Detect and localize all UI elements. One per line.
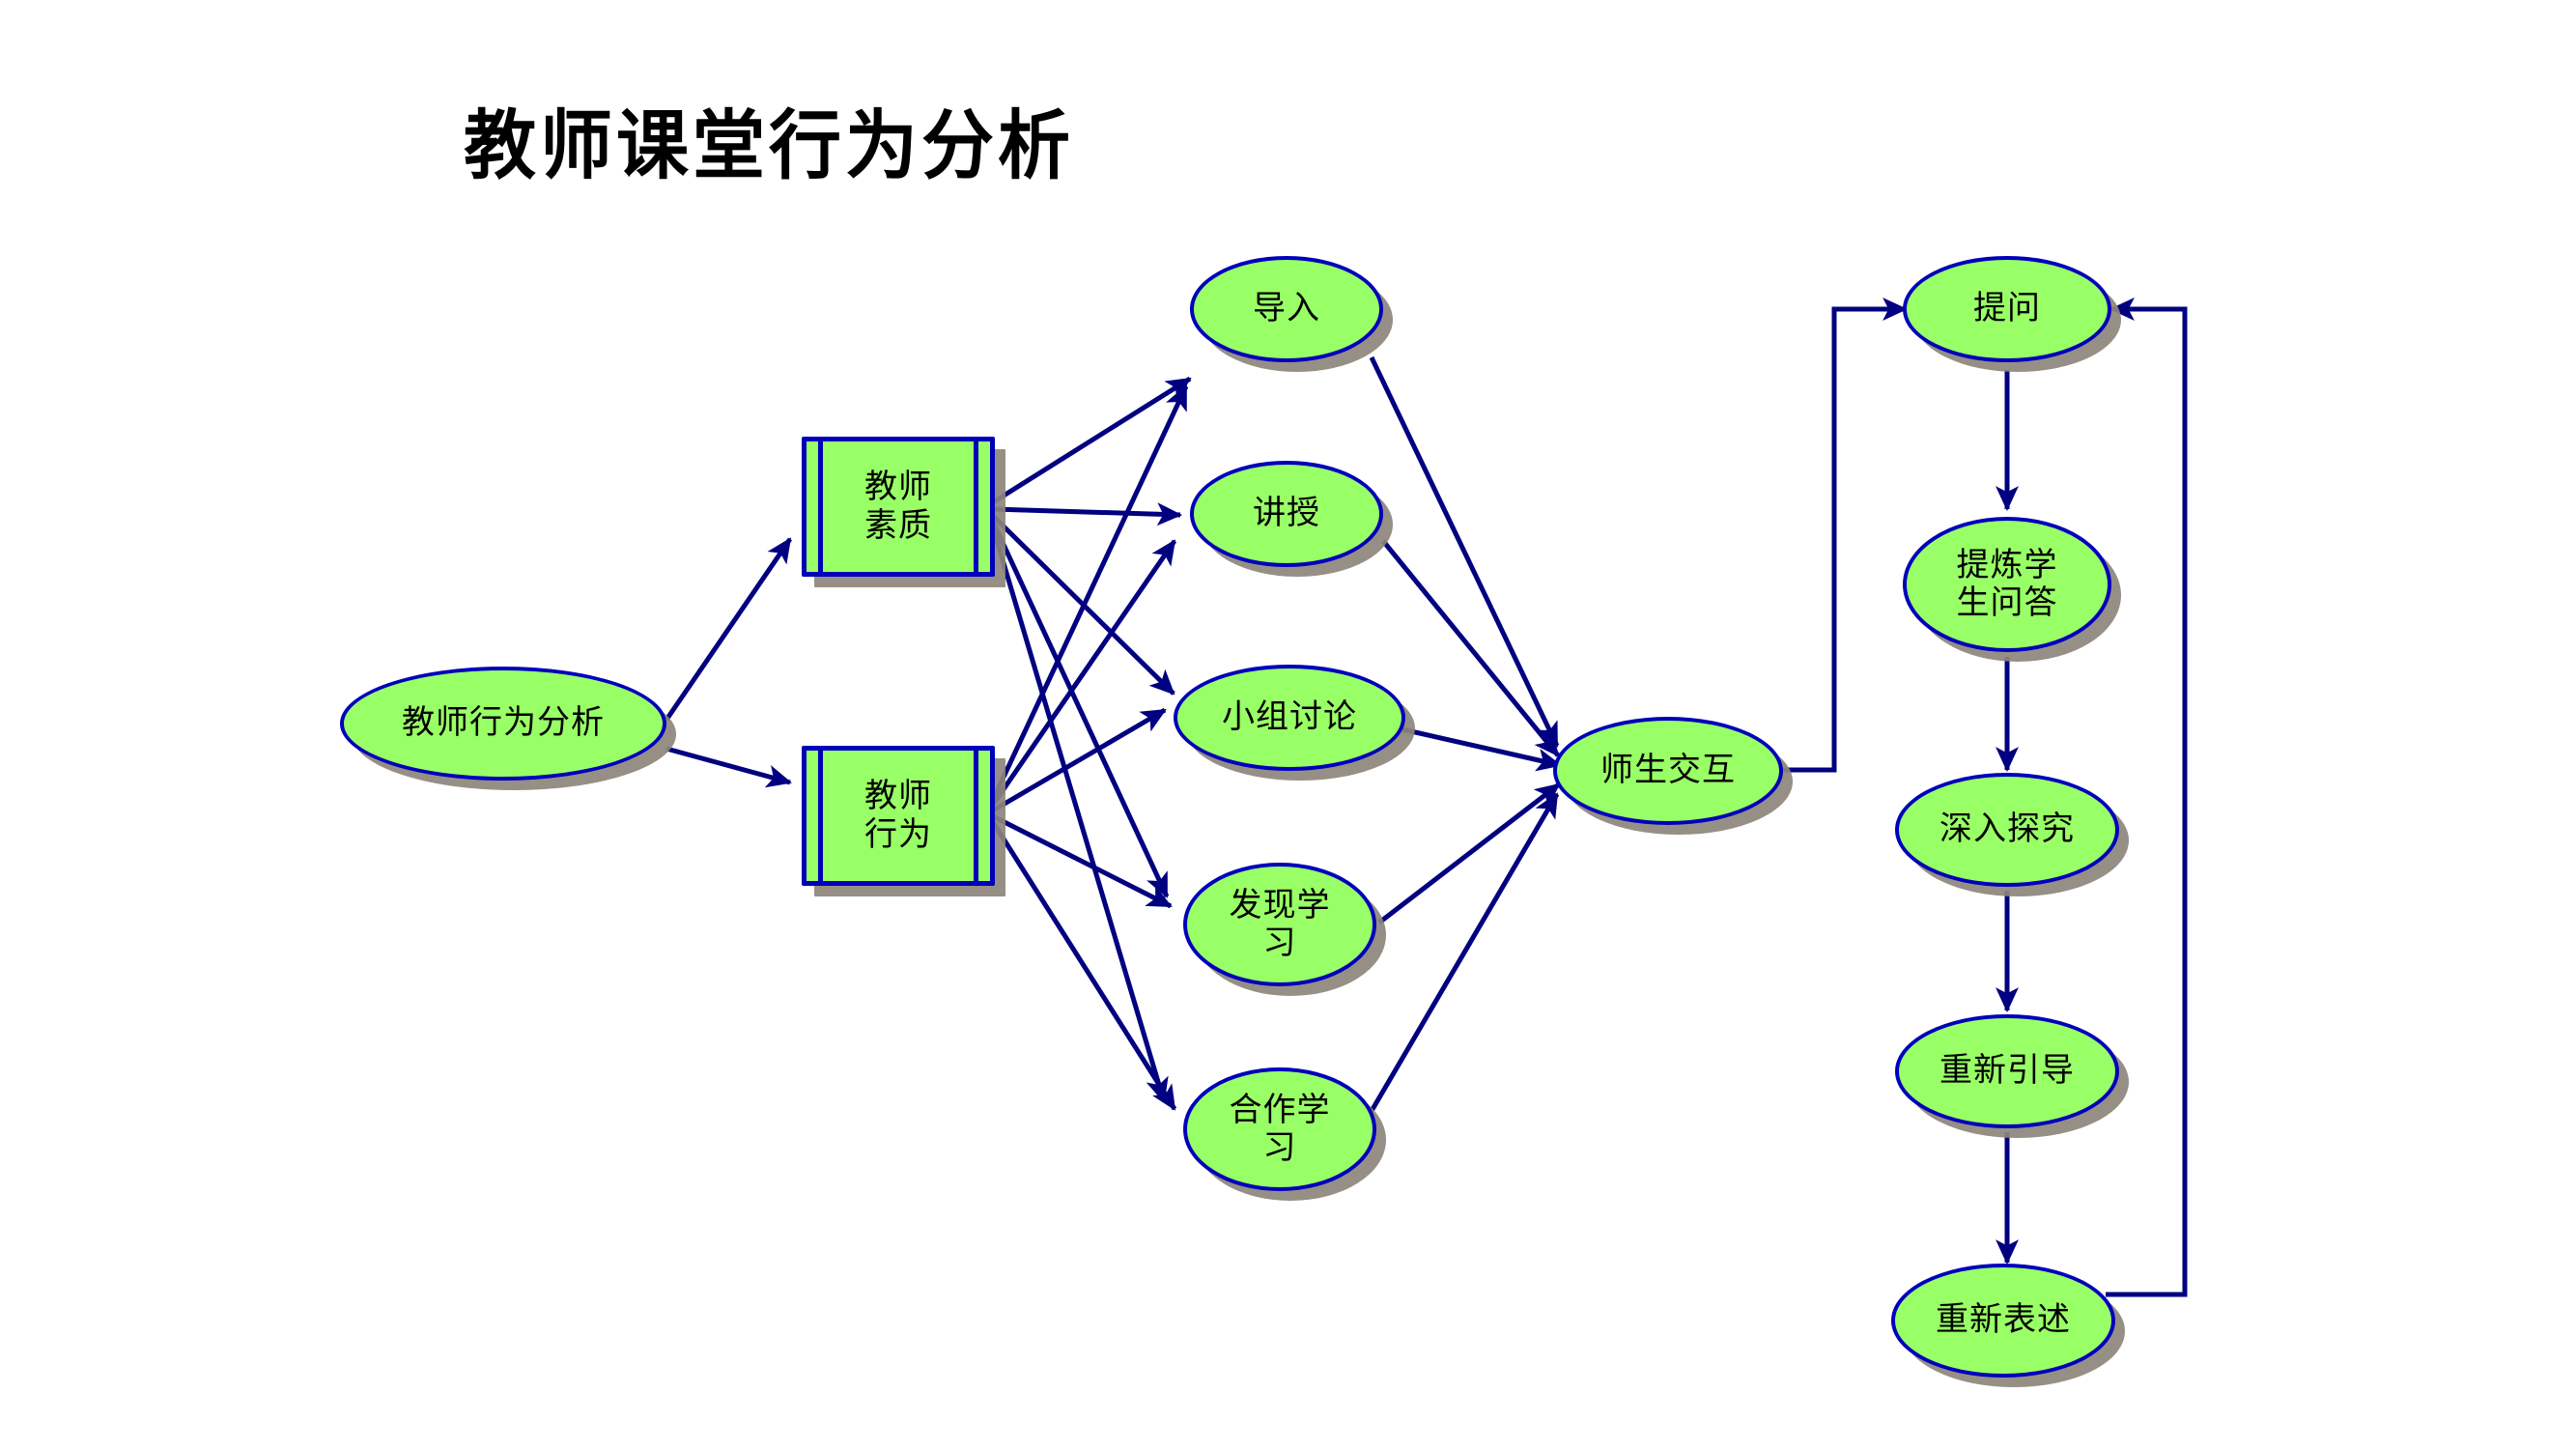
node-label: 教师 素质: [864, 469, 932, 545]
node-teacher-behavior-analysis[interactable]: 教师行为分析: [340, 667, 666, 781]
node-group-discussion[interactable]: 小组讨论: [1174, 665, 1405, 771]
node-deep-inquiry[interactable]: 深入探究: [1895, 773, 2119, 887]
node-intro[interactable]: 导入: [1190, 256, 1383, 362]
node-teacher-quality[interactable]: 教师 素质: [802, 437, 995, 577]
node-label: 重新表述: [1936, 1301, 2071, 1339]
node-discovery-learning[interactable]: 发现学 习: [1183, 863, 1376, 986]
node-label: 深入探究: [1939, 810, 2075, 848]
node-label: 教师行为分析: [402, 704, 605, 742]
node-label: 重新引导: [1939, 1052, 2075, 1090]
node-teacher-student-interaction[interactable]: 师生交互: [1553, 717, 1783, 825]
node-lecture[interactable]: 讲授: [1190, 461, 1383, 567]
node-label: 小组讨论: [1222, 698, 1357, 736]
node-label: 提炼学 生问答: [1957, 547, 2058, 623]
node-cooperative-learning[interactable]: 合作学 习: [1183, 1067, 1376, 1191]
diagram-canvas: 教师课堂行为分析: [0, 0, 2576, 1450]
node-reguide[interactable]: 重新引导: [1895, 1014, 2119, 1128]
node-label: 讲授: [1253, 495, 1320, 532]
node-label: 发现学 习: [1230, 887, 1331, 963]
node-label: 教师 行为: [864, 778, 932, 854]
node-teacher-behavior[interactable]: 教师 行为: [802, 746, 995, 886]
node-label: 师生交互: [1600, 752, 1736, 789]
node-question[interactable]: 提问: [1903, 256, 2111, 362]
node-label: 合作学 习: [1230, 1092, 1331, 1168]
node-refine-student-qa[interactable]: 提炼学 生问答: [1903, 517, 2111, 652]
node-restate[interactable]: 重新表述: [1891, 1264, 2115, 1378]
node-label: 提问: [1973, 290, 2041, 327]
node-label: 导入: [1253, 290, 1320, 327]
node-layer: 教师行为分析 教师 素质 教师 行为 导入 讲授 小组讨论 发现学 习 合作学 …: [0, 0, 2576, 1450]
